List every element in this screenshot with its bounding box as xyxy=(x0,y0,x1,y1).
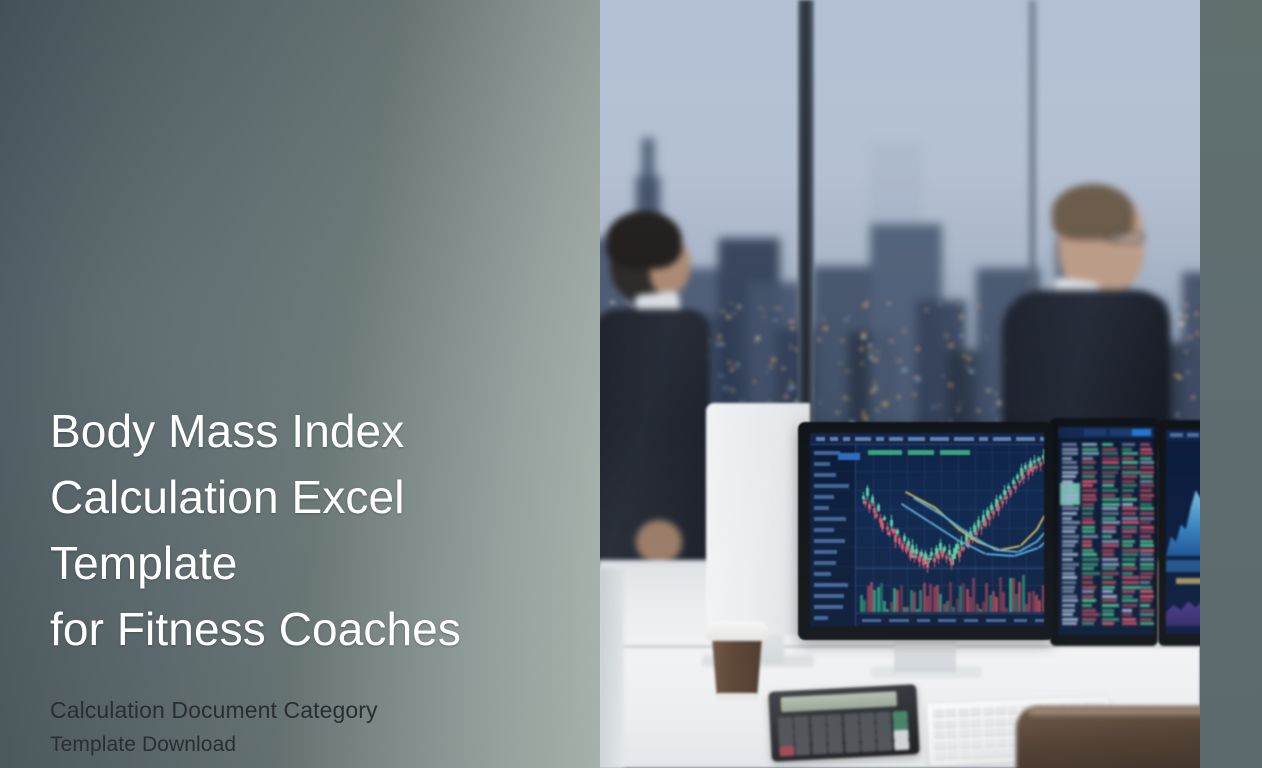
trading-chart-screen xyxy=(810,433,1044,626)
area-chart-monitor xyxy=(1158,420,1200,646)
glasses-icon xyxy=(1108,232,1144,243)
window-mullion xyxy=(798,0,814,440)
area-chart-screen xyxy=(1166,430,1200,634)
area-series-band xyxy=(1166,560,1200,572)
meta-download: Template Download xyxy=(50,728,590,761)
chart-annotation xyxy=(1176,578,1200,584)
slide-meta: Calculation Document Category Template D… xyxy=(50,692,590,761)
monitor-stand xyxy=(894,638,956,672)
office-chair xyxy=(1016,706,1200,768)
businessman-right xyxy=(996,190,1186,440)
area-series-primary xyxy=(1166,486,1200,556)
chart-label-3 xyxy=(940,450,970,455)
cup-base xyxy=(716,693,758,700)
imac-monitor xyxy=(706,403,810,635)
chart-toolbar xyxy=(810,433,1044,445)
chart-label-2 xyxy=(908,450,934,455)
chart-sidebar xyxy=(810,445,856,626)
calculator xyxy=(768,684,919,762)
chair-highlight xyxy=(1028,708,1200,715)
chart-footer-bar xyxy=(856,613,1044,626)
desk-left-edge xyxy=(598,568,624,768)
text-panel: Body Mass Index Calculation Excel Templa… xyxy=(0,0,600,768)
data-monitor xyxy=(1050,418,1158,646)
hair xyxy=(606,211,682,269)
page-title: Body Mass Index Calculation Excel Templa… xyxy=(50,398,590,662)
hand xyxy=(636,520,682,564)
area-series-secondary xyxy=(1166,582,1200,626)
table-tab-2 xyxy=(1110,429,1132,436)
slide-text-block: Body Mass Index Calculation Excel Templa… xyxy=(50,398,590,761)
hero-photo xyxy=(598,0,1200,768)
meta-category: Calculation Document Category xyxy=(50,692,590,728)
cup-sleeve xyxy=(712,637,762,699)
chart-header-bar xyxy=(1166,430,1200,440)
presentation-slide: Body Mass Index Calculation Excel Templa… xyxy=(0,0,1262,768)
coffee-cup xyxy=(708,621,766,699)
data-table-screen xyxy=(1058,427,1154,635)
cup-lid xyxy=(706,621,768,641)
chart-symbol-badge xyxy=(838,453,860,460)
calculator-keypad xyxy=(778,711,912,756)
chart-label-1 xyxy=(868,450,902,455)
trading-monitor xyxy=(798,422,1054,640)
volume-panel xyxy=(856,568,1044,612)
table-tab-1 xyxy=(1084,429,1106,436)
right-accent-band xyxy=(1198,0,1262,768)
